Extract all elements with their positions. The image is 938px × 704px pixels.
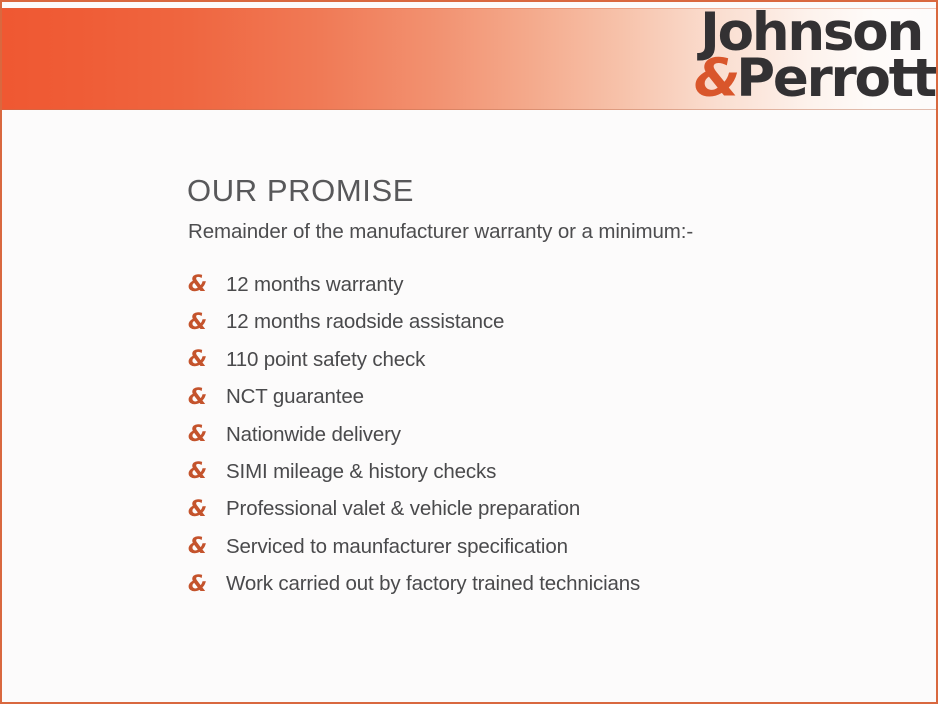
ampersand-bullet-icon: & <box>187 574 226 596</box>
ampersand-bullet-icon: & <box>187 461 226 483</box>
list-item-label: SIMI mileage & history checks <box>226 460 496 485</box>
promise-subtitle: Remainder of the manufacturer warranty o… <box>188 220 907 245</box>
johnson-perrott-logo: Johnson &Perrott <box>694 4 922 110</box>
ampersand-bullet-icon: & <box>187 387 226 409</box>
list-item: & 12 months raodside assistance <box>187 304 907 341</box>
ampersand-bullet-icon: & <box>187 424 226 446</box>
list-item: & NCT guarantee <box>187 379 907 416</box>
list-item-label: 12 months raodside assistance <box>226 310 504 335</box>
list-item: & 110 point safety check <box>187 341 907 378</box>
list-item: & Nationwide delivery <box>187 416 907 453</box>
ampersand-bullet-icon: & <box>187 274 226 296</box>
ampersand-bullet-icon: & <box>187 499 226 521</box>
logo-word-perrott: Perrott <box>736 48 935 109</box>
page-title: OUR PROMISE <box>187 174 907 208</box>
list-item-label: Professional valet & vehicle preparation <box>226 497 580 522</box>
list-item: & 12 months warranty <box>187 267 907 304</box>
list-item: & Serviced to maunfacturer specification <box>187 528 907 565</box>
logo-ampersand-icon: & <box>694 48 736 109</box>
list-item-label: 12 months warranty <box>226 273 403 298</box>
promise-slide: Johnson &Perrott OUR PROMISE Remainder o… <box>0 0 938 704</box>
list-item: & Work carried out by factory trained te… <box>187 566 907 603</box>
ampersand-bullet-icon: & <box>187 312 226 334</box>
ampersand-bullet-icon: & <box>187 349 226 371</box>
promise-list: & 12 months warranty & 12 months raodsid… <box>187 267 907 604</box>
ampersand-bullet-icon: & <box>187 536 226 558</box>
list-item-label: Nationwide delivery <box>226 423 401 448</box>
promise-content: OUR PROMISE Remainder of the manufacture… <box>187 174 907 603</box>
logo-line-perrott: &Perrott <box>694 52 922 105</box>
list-item: & Professional valet & vehicle preparati… <box>187 491 907 528</box>
list-item-label: NCT guarantee <box>226 385 364 410</box>
list-item-label: Serviced to maunfacturer specification <box>226 535 568 560</box>
list-item-label: Work carried out by factory trained tech… <box>226 572 640 597</box>
list-item-label: 110 point safety check <box>226 348 425 373</box>
list-item: & SIMI mileage & history checks <box>187 454 907 491</box>
